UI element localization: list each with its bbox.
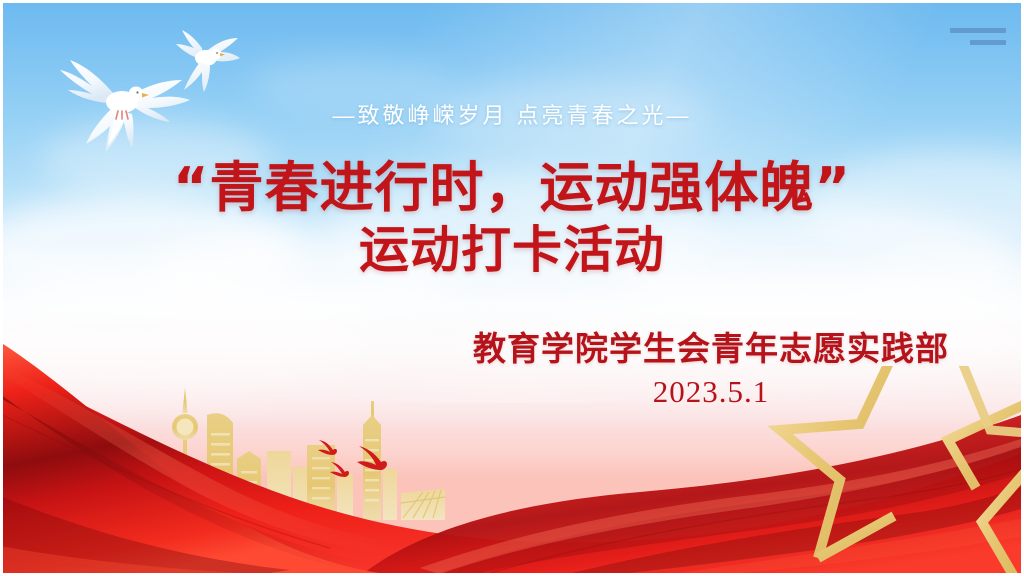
event-date: 2023.5.1 bbox=[426, 374, 996, 410]
sky-background bbox=[0, 0, 1024, 576]
poster-title-line-1: “青春进行时，运动强体魄” bbox=[0, 158, 1024, 218]
organization-block: 教育学院学生会青年志愿实践部 2023.5.1 bbox=[426, 322, 996, 410]
decor-line-long bbox=[950, 28, 1006, 33]
corner-decor-lines bbox=[950, 28, 1006, 45]
poster-canvas: —致敬峥嵘岁月 点亮青春之光— “青春进行时，运动强体魄” 运动打卡活动 教育学… bbox=[0, 0, 1024, 576]
poster-subtitle: —致敬峥嵘岁月 点亮青春之光— bbox=[0, 98, 1024, 130]
organization-name: 教育学院学生会青年志愿实践部 bbox=[426, 322, 996, 370]
poster-title-block: “青春进行时，运动强体魄” 运动打卡活动 bbox=[0, 158, 1024, 278]
poster-title-line-2: 运动打卡活动 bbox=[0, 222, 1024, 278]
decor-line-short bbox=[970, 40, 1006, 45]
